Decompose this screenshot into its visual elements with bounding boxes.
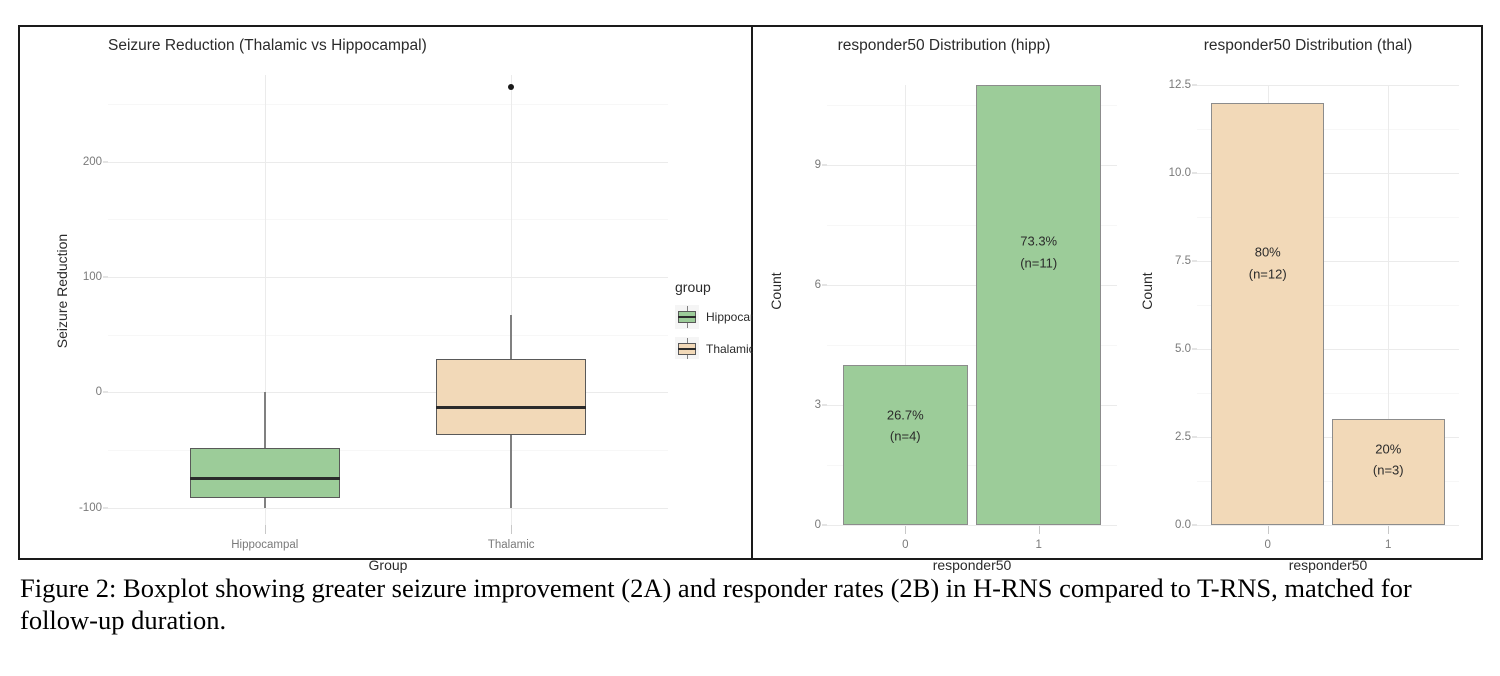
x-tick-label: 0 — [902, 539, 908, 551]
legend-label-thalamic: Thalamic — [706, 342, 753, 356]
y-tick-label: 10.0 — [1169, 167, 1191, 179]
y-tick-mark — [1192, 85, 1197, 86]
y-tick-mark — [822, 165, 827, 166]
panel-a-boxplot: Seizure Reduction (Thalamic vs Hippocamp… — [20, 27, 753, 558]
axis-baseline — [1197, 525, 1459, 526]
panel-thal-plot-area: 0.02.55.07.510.012.50180%(n=12)20%(n=3) — [1197, 85, 1459, 525]
y-tick-label: 200 — [83, 156, 102, 168]
subpanel-thal: responder50 Distribution (thal) Count 0.… — [1135, 27, 1481, 558]
figure-caption: Figure 2: Boxplot showing greater seizur… — [20, 572, 1480, 637]
y-tick-mark — [1192, 261, 1197, 262]
y-tick-label: 7.5 — [1175, 255, 1191, 267]
panel-hipp-plot-area: 03690126.7%(n=4)73.3%(n=11) — [827, 85, 1117, 525]
panel-thal-title: responder50 Distribution (thal) — [1135, 37, 1481, 55]
figure-frame: Seizure Reduction (Thalamic vs Hippocamp… — [18, 25, 1483, 560]
median-line — [436, 406, 586, 409]
y-tick-mark — [822, 285, 827, 286]
x-tick-mark — [265, 525, 266, 534]
whisker-upper — [510, 315, 512, 359]
x-tick-label: Hippocampal — [231, 539, 298, 551]
panel-b-barcharts: responder50 Distribution (hipp) Count 03… — [753, 27, 1481, 558]
bar-percent: 73.3% — [1020, 234, 1057, 249]
y-tick-mark — [1192, 349, 1197, 350]
x-tick-label: 0 — [1265, 539, 1271, 551]
panel-hipp-x-axis-title: responder50 — [827, 557, 1117, 573]
x-tick-label: 1 — [1035, 539, 1041, 551]
x-tick-mark — [511, 525, 512, 534]
x-tick-label: 1 — [1385, 539, 1391, 551]
panel-thal-x-axis-title: responder50 — [1197, 557, 1459, 573]
subpanel-hipp: responder50 Distribution (hipp) Count 03… — [753, 27, 1135, 558]
figure-container: Seizure Reduction (Thalamic vs Hippocamp… — [0, 0, 1500, 676]
bar-1[interactable] — [976, 85, 1101, 525]
panel-a-legend: group Hippocampal — [675, 279, 753, 359]
panel-hipp-title: responder50 Distribution (hipp) — [753, 37, 1135, 55]
bar-label-0: 80%(n=12) — [1211, 242, 1324, 285]
bar-percent: 26.7% — [887, 407, 924, 422]
x-tick-mark — [905, 525, 906, 534]
y-tick-label: 9 — [815, 159, 821, 171]
y-tick-label: -100 — [79, 502, 102, 514]
bar-0[interactable] — [1211, 103, 1324, 525]
bar-label-1: 20%(n=3) — [1332, 438, 1445, 481]
legend-title: group — [675, 279, 753, 295]
y-tick-label: 2.5 — [1175, 431, 1191, 443]
panel-a-x-axis-title: Group — [108, 557, 668, 573]
boxplot-group-thalamic — [108, 75, 668, 525]
bar-label-0: 26.7%(n=4) — [843, 404, 968, 447]
x-tick-label: Thalamic — [488, 539, 535, 551]
axis-baseline — [827, 525, 1117, 526]
bar-label-1: 73.3%(n=11) — [976, 231, 1101, 274]
bar-percent: 80% — [1255, 245, 1281, 260]
bar-count: (n=3) — [1373, 463, 1404, 478]
legend-label-hippocampal: Hippocampal — [706, 310, 753, 324]
panel-a-legend-clip: group Hippocampal — [675, 279, 753, 359]
y-tick-label: 5.0 — [1175, 343, 1191, 355]
panel-a-y-axis-title: Seizure Reduction — [54, 211, 70, 371]
box-rect — [436, 359, 586, 435]
bar-percent: 20% — [1375, 441, 1401, 456]
y-tick-label: 6 — [815, 279, 821, 291]
legend-item-thalamic[interactable]: Thalamic — [675, 337, 753, 359]
panel-a-plot-area: 2001000-100HippocampalThalamic — [108, 75, 668, 525]
y-tick-label: 0 — [815, 519, 821, 531]
y-tick-label: 0.0 — [1175, 519, 1191, 531]
y-tick-mark — [1192, 173, 1197, 174]
panel-a-title: Seizure Reduction (Thalamic vs Hippocamp… — [20, 37, 751, 55]
legend-key-thalamic-icon — [675, 337, 699, 359]
legend-key-hippocampal-icon — [675, 305, 699, 329]
x-tick-mark — [1039, 525, 1040, 534]
x-tick-mark — [1268, 525, 1269, 534]
whisker-lower — [510, 435, 512, 508]
y-tick-label: 3 — [815, 399, 821, 411]
y-tick-mark — [822, 405, 827, 406]
y-tick-label: 100 — [83, 271, 102, 283]
bar-count: (n=12) — [1249, 266, 1287, 281]
y-tick-label: 0 — [96, 386, 102, 398]
bar-count: (n=4) — [890, 429, 921, 444]
outlier-point — [508, 84, 514, 90]
bar-count: (n=11) — [1020, 255, 1057, 270]
gridline-major — [1197, 85, 1459, 86]
legend-item-hippocampal[interactable]: Hippocampal — [675, 305, 753, 329]
panel-hipp-y-axis-title: Count — [768, 236, 784, 346]
x-tick-mark — [1388, 525, 1389, 534]
y-tick-label: 12.5 — [1169, 79, 1191, 91]
y-tick-mark — [1192, 437, 1197, 438]
panel-thal-y-axis-title: Count — [1139, 236, 1155, 346]
